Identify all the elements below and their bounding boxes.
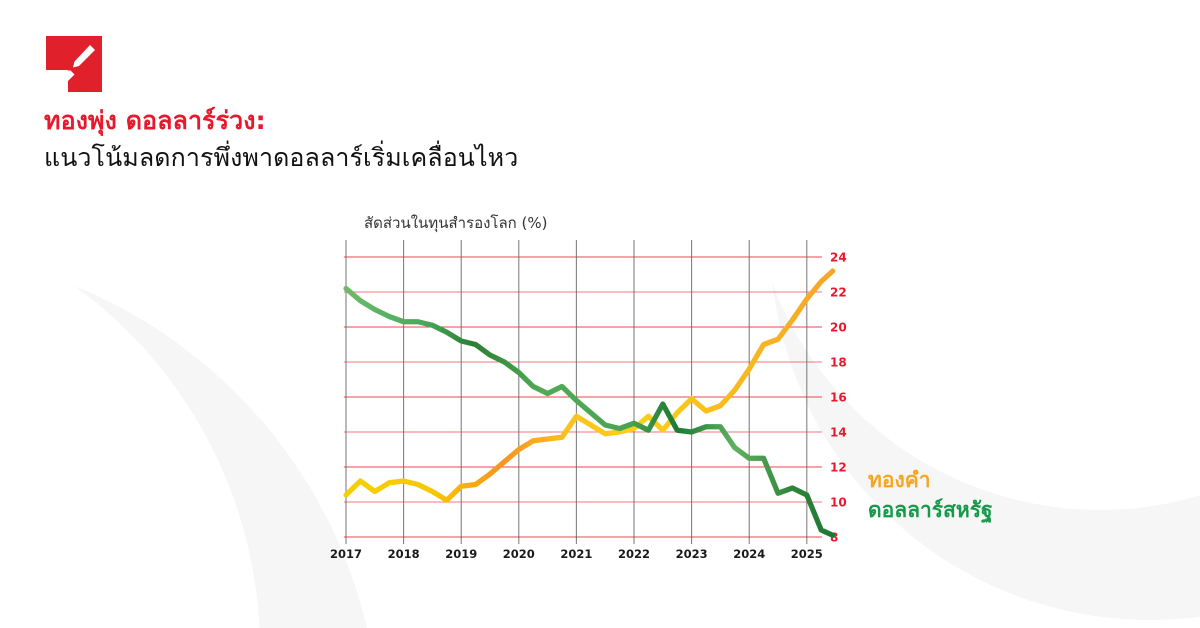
svg-text:2023: 2023 <box>676 547 708 561</box>
svg-text:12: 12 <box>830 461 847 475</box>
horizontal-gridlines <box>344 257 822 537</box>
svg-text:18: 18 <box>830 356 847 370</box>
chart-series-lines <box>346 271 833 535</box>
y-axis-tick-labels: 81012141618202224 <box>830 251 847 545</box>
svg-text:2020: 2020 <box>503 547 535 561</box>
headline-block: ทองพุ่ง ดอลลาร์ร่วง: แนวโน้มลดการพึ่งพาด… <box>44 104 744 175</box>
headline-secondary: แนวโน้มลดการพึ่งพาดอลลาร์เริ่มเคลื่อนไหว <box>44 141 744 176</box>
background-swoosh-left <box>0 250 380 628</box>
svg-text:10: 10 <box>830 496 847 510</box>
svg-text:16: 16 <box>830 391 847 405</box>
line-chart: 81012141618202224 2017201820192020202120… <box>0 0 1200 628</box>
svg-text:8: 8 <box>830 531 838 545</box>
svg-text:2025: 2025 <box>791 547 823 561</box>
background-swoosh-right-mask <box>750 0 1200 510</box>
svg-text:2018: 2018 <box>388 547 420 561</box>
legend-item-gold: ทองคำ <box>868 466 993 496</box>
svg-text:2019: 2019 <box>445 547 477 561</box>
chart-legend: ทองคำ ดอลลาร์สหรัฐ <box>868 466 993 526</box>
svg-text:22: 22 <box>830 286 847 300</box>
svg-text:2022: 2022 <box>618 547 650 561</box>
vertical-gridlines <box>346 240 807 538</box>
chart-panel: สัดส่วนในทุนสำรองโลก (%) <box>0 0 1200 628</box>
svg-text:2024: 2024 <box>733 547 765 561</box>
svg-text:2017: 2017 <box>330 547 362 561</box>
brand-logo-icon <box>46 36 102 92</box>
svg-text:20: 20 <box>830 321 847 335</box>
x-axis-ticks <box>346 537 807 544</box>
chart-title: สัดส่วนในทุนสำรองโลก (%) <box>364 211 547 235</box>
svg-text:24: 24 <box>830 251 847 265</box>
headline-primary: ทองพุ่ง ดอลลาร์ร่วง: <box>44 104 744 139</box>
infographic-root: ทองพุ่ง ดอลลาร์ร่วง: แนวโน้มลดการพึ่งพาด… <box>0 0 1200 628</box>
series-gold <box>346 271 833 500</box>
legend-item-usd: ดอลลาร์สหรัฐ <box>868 496 993 526</box>
background-swoosh-right <box>770 0 1200 620</box>
x-axis-tick-labels: 201720182019202020212022202320242025 <box>330 547 823 561</box>
series-usd <box>346 289 833 536</box>
background-swoosh-left-mask <box>0 200 260 628</box>
svg-text:2021: 2021 <box>560 547 592 561</box>
svg-text:14: 14 <box>830 426 847 440</box>
